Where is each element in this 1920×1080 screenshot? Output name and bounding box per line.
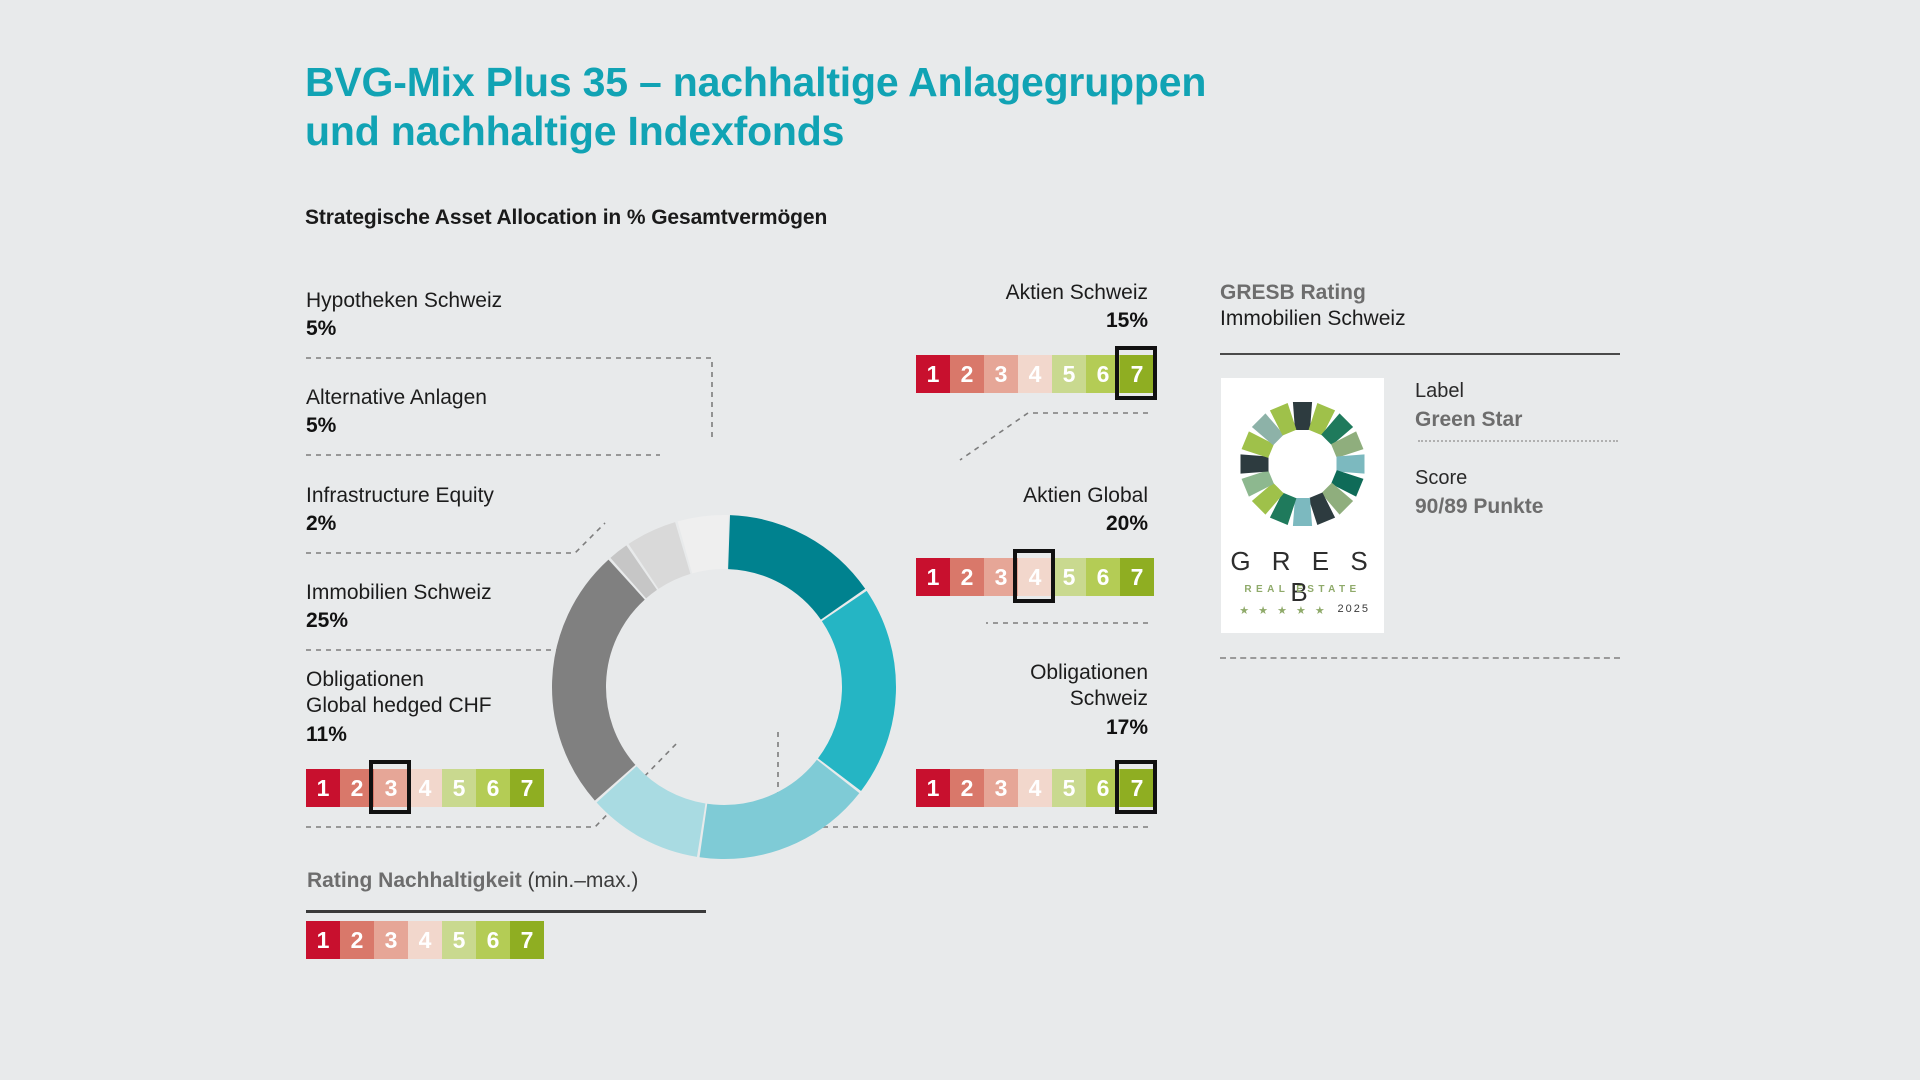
gresb-label-field: Label Green Star <box>1415 378 1625 434</box>
rating-step-5[interactable]: 5 <box>442 769 476 807</box>
page-title-line2: und nachhaltige Indexfonds <box>305 107 1425 156</box>
chart-overlay <box>0 0 1920 1080</box>
label-name-line2: Schweiz <box>848 686 1148 712</box>
label-name: Aktien Global <box>848 483 1148 509</box>
gresb-score-key: Score <box>1415 465 1625 491</box>
label-obligationen-schweiz: Obligationen Schweiz 17% <box>848 660 1148 741</box>
rating-step-2[interactable]: 2 <box>950 355 984 393</box>
label-name: Aktien Schweiz <box>848 280 1148 306</box>
rating-step-7[interactable]: 7 <box>510 921 544 959</box>
rating-step-5[interactable]: 5 <box>442 921 476 959</box>
rating-step-6[interactable]: 6 <box>476 921 510 959</box>
gresb-year: 2025 <box>1338 603 1370 615</box>
legend-title: Rating Nachhaltigkeit (min.–max.) <box>307 869 638 893</box>
rating-step-4[interactable]: 4 <box>408 769 442 807</box>
gresb-title: GRESB Rating <box>1220 280 1620 306</box>
rating-step-1[interactable]: 1 <box>306 921 340 959</box>
rating-scale-aktien-schweiz[interactable]: 1234567 <box>916 355 1154 393</box>
rating-step-7[interactable]: 7 <box>1120 355 1154 393</box>
label-infrastructure-equity: Infrastructure Equity 2% <box>306 483 716 538</box>
label-value: 2% <box>306 510 716 537</box>
gresb-logo-petal <box>1293 402 1312 430</box>
label-value: 17% <box>848 714 1148 741</box>
gresb-score-field: Score 90/89 Punkte <box>1415 465 1625 521</box>
legend-title-bold: Rating Nachhaltigkeit <box>307 869 522 892</box>
label-immobilien-schweiz: Immobilien Schweiz 25% <box>306 580 716 635</box>
rating-scale-obligationen-schweiz[interactable]: 1234567 <box>916 769 1154 807</box>
legend-title-sub: (min.–max.) <box>528 869 639 892</box>
page-title: BVG-Mix Plus 35 – nachhaltige Anlagegrup… <box>305 58 1425 156</box>
rating-step-5[interactable]: 5 <box>1052 558 1086 596</box>
label-hypotheken-schweiz: Hypotheken Schweiz 5% <box>306 288 716 343</box>
gresb-tagline: REAL ESTATE <box>1221 584 1384 595</box>
rating-step-5[interactable]: 5 <box>1052 355 1086 393</box>
label-value: 20% <box>848 510 1148 537</box>
gresb-logo-petal <box>1241 454 1269 473</box>
label-name: Hypotheken Schweiz <box>306 288 716 314</box>
rating-step-1[interactable]: 1 <box>916 769 950 807</box>
label-value: 15% <box>848 307 1148 334</box>
rating-step-7[interactable]: 7 <box>1120 769 1154 807</box>
gresb-subtitle: Immobilien Schweiz <box>1220 306 1620 332</box>
label-obligationen-global-hedged-chf: Obligationen Global hedged CHF 11% <box>306 667 716 748</box>
rating-step-4[interactable]: 4 <box>1018 558 1052 596</box>
rating-step-1[interactable]: 1 <box>306 769 340 807</box>
rating-step-3[interactable]: 3 <box>374 921 408 959</box>
gresb-label-key: Label <box>1415 378 1625 404</box>
rating-scale-obligationen-global-hedged-chf[interactable]: 1234567 <box>306 769 544 807</box>
leader-aktien-schweiz <box>960 413 1148 460</box>
gresb-wordmark: G R E S B <box>1221 546 1384 608</box>
label-value: 5% <box>306 315 716 342</box>
gresb-divider-bottom <box>1220 657 1620 659</box>
rating-step-4[interactable]: 4 <box>1018 769 1052 807</box>
gresb-divider-top <box>1220 353 1620 355</box>
gresb-logo-wheel-icon <box>1221 380 1384 548</box>
label-value: 5% <box>306 412 716 439</box>
label-name: Alternative Anlagen <box>306 385 716 411</box>
gresb-panel: GRESB Rating Immobilien Schweiz <box>1220 280 1620 331</box>
infographic-canvas: BVG-Mix Plus 35 – nachhaltige Anlagegrup… <box>0 0 1920 1080</box>
gresb-label-value: Green Star <box>1415 406 1625 434</box>
gresb-logo-petal <box>1337 454 1365 473</box>
legend-divider <box>306 910 706 913</box>
rating-step-4[interactable]: 4 <box>408 921 442 959</box>
gresb-score-value: 90/89 Punkte <box>1415 493 1625 521</box>
rating-step-1[interactable]: 1 <box>916 355 950 393</box>
label-name-line2: Global hedged CHF <box>306 693 716 719</box>
label-name: Immobilien Schweiz <box>306 580 716 606</box>
gresb-field-divider <box>1418 440 1618 442</box>
rating-step-3[interactable]: 3 <box>374 769 408 807</box>
rating-step-3[interactable]: 3 <box>984 355 1018 393</box>
label-name-line1: Obligationen <box>306 667 716 693</box>
rating-step-5[interactable]: 5 <box>1052 769 1086 807</box>
gresb-logo-petal <box>1293 498 1312 526</box>
rating-step-3[interactable]: 3 <box>984 769 1018 807</box>
label-value: 11% <box>306 721 716 748</box>
rating-step-7[interactable]: 7 <box>1120 558 1154 596</box>
rating-step-2[interactable]: 2 <box>950 558 984 596</box>
rating-step-4[interactable]: 4 <box>1018 355 1052 393</box>
rating-step-2[interactable]: 2 <box>950 769 984 807</box>
rating-step-7[interactable]: 7 <box>510 769 544 807</box>
label-name-line1: Obligationen <box>848 660 1148 686</box>
label-aktien-schweiz: Aktien Schweiz 15% <box>848 280 1148 335</box>
rating-scale-aktien-global[interactable]: 1234567 <box>916 558 1154 596</box>
label-aktien-global: Aktien Global 20% <box>848 483 1148 538</box>
page-title-line1: BVG-Mix Plus 35 – nachhaltige Anlagegrup… <box>305 58 1425 107</box>
rating-step-2[interactable]: 2 <box>340 921 374 959</box>
rating-step-6[interactable]: 6 <box>476 769 510 807</box>
rating-scale-legend: 1234567 <box>306 921 544 959</box>
label-name: Infrastructure Equity <box>306 483 716 509</box>
gresb-logo: G R E S B REAL ESTATE ★ ★ ★ ★ ★ 2025 <box>1221 378 1384 633</box>
rating-step-6[interactable]: 6 <box>1086 558 1120 596</box>
rating-step-1[interactable]: 1 <box>916 558 950 596</box>
label-alternative-anlagen: Alternative Anlagen 5% <box>306 385 716 440</box>
page-subtitle: Strategische Asset Allocation in % Gesam… <box>305 206 827 230</box>
label-value: 25% <box>306 607 716 634</box>
